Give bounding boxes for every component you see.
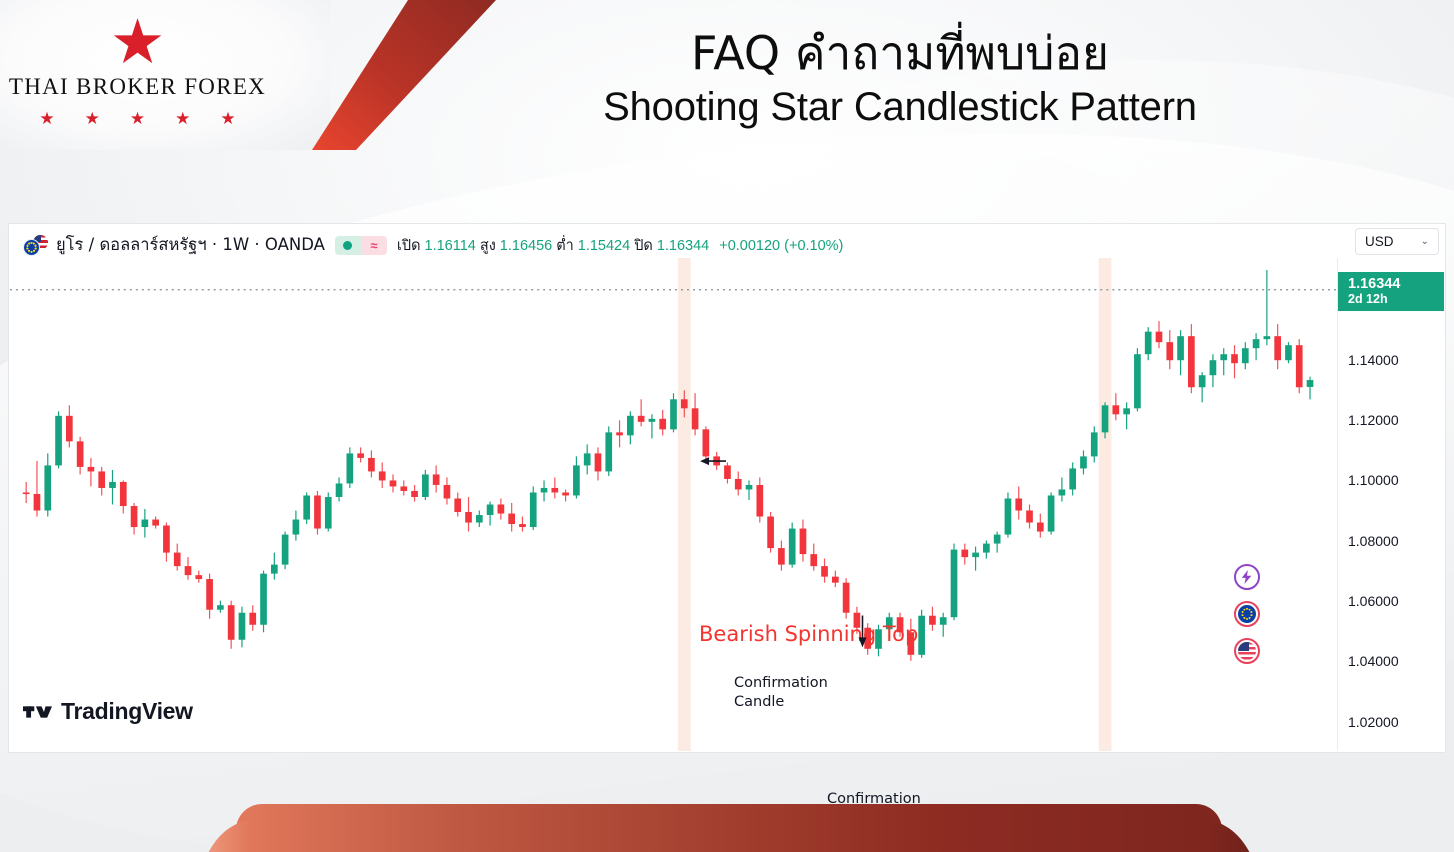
star-icon: ★ [130,109,145,129]
price-tick: 1.06000 [1348,593,1399,609]
tradingview-logo-icon [23,702,52,722]
approx-icon: ≈ [361,236,387,255]
open-label: เปิด [397,234,421,257]
price-tick: 1.12000 [1348,412,1399,428]
brand-rating-stars: ★ ★ ★ ★ ★ [39,109,235,129]
price-tick: 1.02000 [1348,714,1399,730]
brand-name: THAI BROKER FOREX [9,74,266,100]
price-tick: 1.14000 [1348,352,1399,368]
eurusd-flag-icon [23,234,49,256]
chart-style-badges[interactable]: ≈ [335,236,387,255]
star-icon: ★ [85,109,100,129]
bar-countdown: 2d 12h [1348,292,1444,306]
star-icon: ★ [39,109,54,129]
brand-star-icon: ★ [110,16,166,70]
live-dot-icon [335,236,361,255]
chevron-down-icon: ⌄ [1421,236,1429,247]
open-value: 1.16114 [425,238,476,254]
tradingview-attribution[interactable]: TradingView [23,698,193,725]
ohlc-values: เปิด1.16114 สูง1.16456 ต่ำ1.15424 ปิด1.1… [397,234,843,257]
high-value: 1.16456 [500,238,552,254]
close-value: 1.16344 [657,238,709,254]
current-price-badge: 1.16344 2d 12h [1338,272,1444,311]
title-line-1: FAQ คำถามที่พบบ่อย [420,26,1380,80]
chart-legend: ยูโร / ดอลลาร์สหรัฐฯ · 1W · OANDA ≈ เปิด… [23,232,843,258]
lightning-icon[interactable] [1234,564,1260,590]
lightning-bolt-glyph [1241,570,1253,584]
currency-value: USD [1365,234,1394,249]
star-icon: ★ [220,109,235,129]
brand-logo: ★ THAI BROKER FOREX ★ ★ ★ ★ ★ [0,4,275,144]
bottom-ribbon [236,804,1222,852]
price-tick: 1.08000 [1348,533,1399,549]
tradingview-label: TradingView [61,698,193,725]
tradingview-chart-card: ยูโร / ดอลลาร์สหรัฐฯ · 1W · OANDA ≈ เปิด… [8,223,1446,753]
page-title: FAQ คำถามที่พบบ่อย Shooting Star Candles… [420,26,1380,132]
close-label: ปิด [634,234,653,257]
high-label: สูง [480,234,496,257]
floating-action-buttons[interactable] [1234,564,1260,664]
price-axis[interactable]: 1.020001.040001.060001.080001.100001.120… [1337,258,1444,751]
candlestick-plot[interactable] [10,258,1337,751]
change-value: +0.00120 (+0.10%) [719,238,843,254]
us-flag-icon[interactable] [1234,638,1260,664]
low-value: 1.15424 [578,238,630,254]
star-icon: ★ [175,109,190,129]
candlestick-svg [10,258,1337,751]
current-price: 1.16344 [1348,276,1444,292]
price-tick: 1.10000 [1348,472,1399,488]
currency-select[interactable]: USD ⌄ [1355,228,1439,255]
low-label: ต่ำ [556,234,574,257]
price-tick: 1.04000 [1348,653,1399,669]
symbol-title[interactable]: ยูโร / ดอลลาร์สหรัฐฯ · 1W · OANDA [56,232,325,258]
eu-flag-icon[interactable] [1234,601,1260,627]
title-line-2: Shooting Star Candlestick Pattern [420,82,1380,132]
